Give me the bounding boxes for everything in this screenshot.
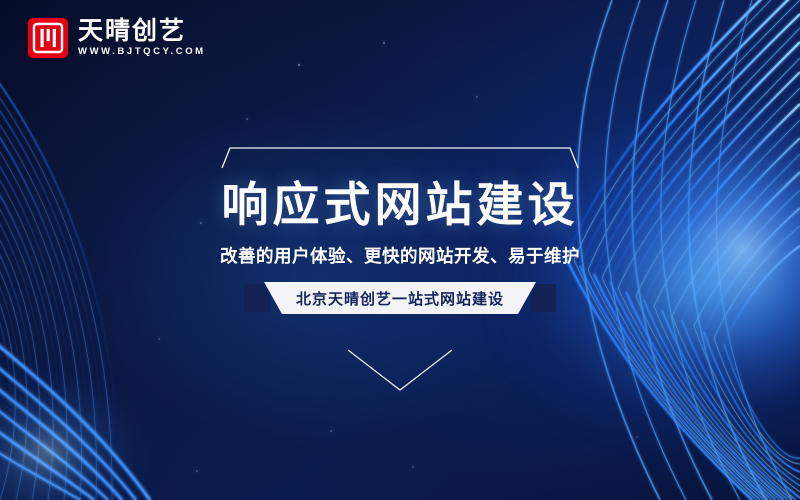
brand-logo[interactable]: 天晴创艺 WWW.BJTQCY.COM: [28, 18, 206, 58]
ribbon-label: 北京天晴创艺一站式网站建设: [244, 282, 556, 314]
logo-website-url: WWW.BJTQCY.COM: [78, 47, 206, 57]
tianqing-logo-mark-icon: [28, 18, 68, 58]
bottom-chevron-decoration: [340, 348, 460, 394]
hero-subline: 改善的用户体验、更快的网站开发、易于维护: [220, 243, 580, 268]
logo-company-name: 天晴创艺: [78, 19, 206, 44]
hero-content: 响应式网站建设 改善的用户体验、更快的网站开发、易于维护 北京天晴创艺一站式网站…: [0, 140, 800, 394]
hero-ribbon: 北京天晴创艺一站式网站建设: [244, 282, 556, 314]
hero-banner: 天晴创艺 WWW.BJTQCY.COM 响应式网站建设 改善的用户体验、更快的网…: [0, 0, 800, 500]
top-bracket-decoration: [200, 140, 600, 170]
hero-headline: 响应式网站建设: [222, 180, 579, 229]
logo-text-block: 天晴创艺 WWW.BJTQCY.COM: [78, 19, 206, 57]
